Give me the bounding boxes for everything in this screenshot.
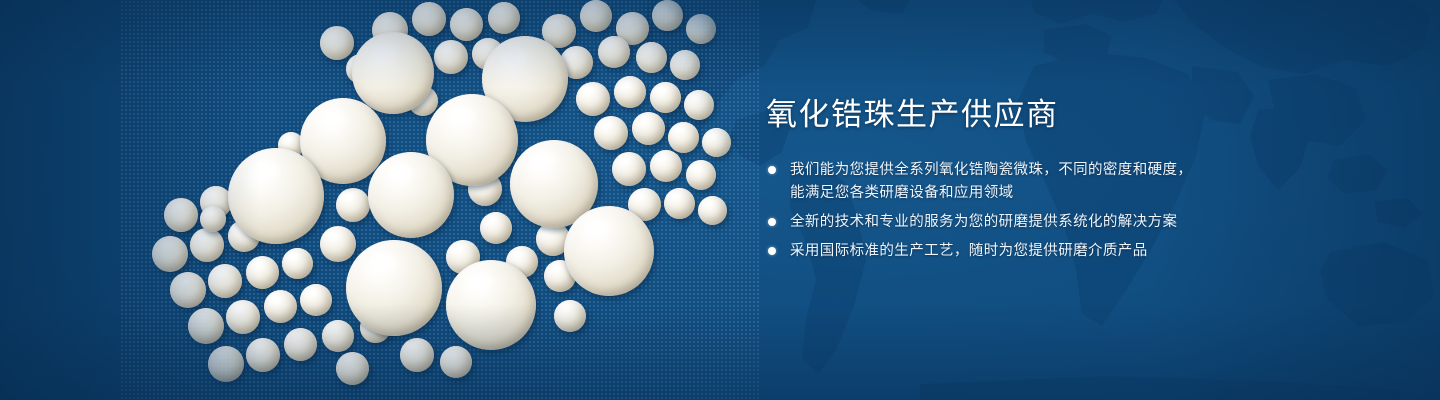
bullet-dot-icon [768, 166, 776, 174]
bullet-dot-icon [768, 218, 776, 226]
bullet-line: 采用国际标准的生产工艺，随时为您提供研磨介质产品 [790, 240, 1380, 262]
hero-banner: 氧化锆珠生产供应商 我们能为您提供全系列氧化锆陶瓷微珠，不同的密度和硬度， 能满… [0, 0, 1440, 400]
bullet-dot-icon [768, 247, 776, 255]
list-item: 我们能为您提供全系列氧化锆陶瓷微珠，不同的密度和硬度， 能满足您各类研磨设备和应… [760, 159, 1380, 204]
banner-content: 氧化锆珠生产供应商 我们能为您提供全系列氧化锆陶瓷微珠，不同的密度和硬度， 能满… [760, 96, 1380, 262]
bullet-line: 我们能为您提供全系列氧化锆陶瓷微珠，不同的密度和硬度， [790, 159, 1380, 181]
bullet-line: 全新的技术和专业的服务为您的研磨提供系统化的解决方案 [790, 211, 1380, 233]
bullet-line: 能满足您各类研磨设备和应用领域 [790, 182, 1380, 204]
benefits-list: 我们能为您提供全系列氧化锆陶瓷微珠，不同的密度和硬度， 能满足您各类研磨设备和应… [760, 159, 1380, 262]
list-item: 全新的技术和专业的服务为您的研磨提供系统化的解决方案 [760, 211, 1380, 233]
list-item: 采用国际标准的生产工艺，随时为您提供研磨介质产品 [760, 240, 1380, 262]
banner-headline: 氧化锆珠生产供应商 [766, 96, 1380, 133]
